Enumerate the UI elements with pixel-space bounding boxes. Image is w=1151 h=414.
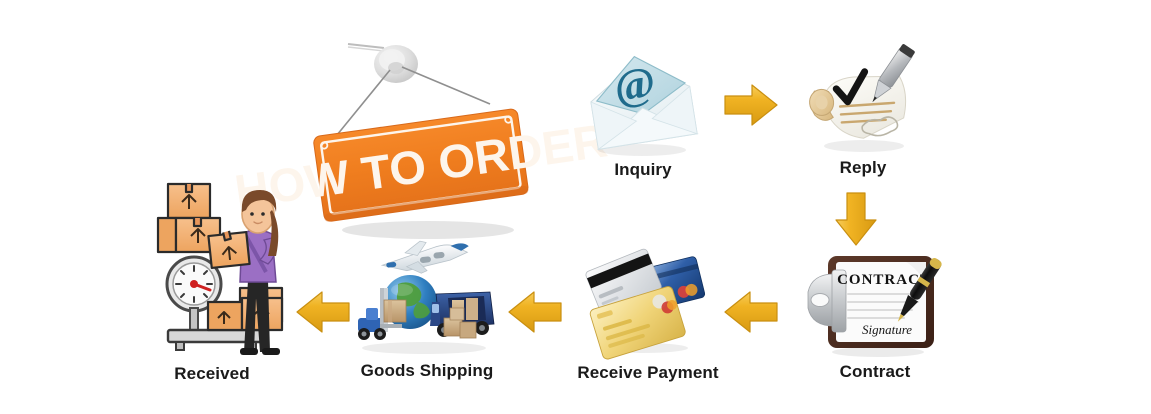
arrow-contract-to-payment — [722, 289, 780, 335]
caption-receive-payment: Receive Payment — [563, 363, 733, 383]
banner-shadow — [342, 221, 514, 239]
plane-globe-truck-icon — [344, 240, 504, 358]
scroll-check-pen-icon — [798, 46, 928, 158]
contract-signature: Signature — [862, 322, 912, 337]
arrow-shipping-to-received — [294, 289, 352, 335]
step-receive-payment[interactable] — [578, 244, 718, 356]
step-contract[interactable]: CONTRACT Signature — [800, 248, 950, 360]
step-reply[interactable] — [798, 46, 928, 158]
step-inquiry[interactable]: @ — [578, 50, 708, 160]
hook-knob-icon — [374, 45, 418, 83]
caption-inquiry: Inquiry — [578, 160, 708, 180]
arrow-payment-to-shipping — [506, 289, 564, 335]
credit-cards-icon — [578, 244, 718, 356]
arrow-inquiry-to-reply — [722, 82, 780, 128]
airplane-icon — [380, 236, 471, 277]
step-goods-shipping[interactable] — [344, 240, 504, 358]
how-to-order-banner: HOW TO ORDER — [300, 34, 540, 244]
envelope-at-icon: @ — [578, 50, 708, 160]
clipboard-contract-pen-icon: CONTRACT Signature — [800, 248, 950, 360]
caption-contract: Contract — [800, 362, 950, 382]
warehouse-worker-scale-icon — [152, 172, 292, 360]
caption-goods-shipping: Goods Shipping — [344, 361, 510, 381]
how-to-order-diagram: HOW TO ORDER — [0, 0, 1151, 414]
at-symbol-icon: @ — [611, 57, 659, 112]
caption-received: Received — [142, 364, 282, 384]
step-received[interactable] — [152, 172, 292, 360]
arrow-reply-to-contract — [833, 190, 879, 248]
delivery-truck-icon — [430, 292, 494, 338]
caption-reply: Reply — [798, 158, 928, 178]
ceiling-rail-icon — [348, 44, 384, 51]
